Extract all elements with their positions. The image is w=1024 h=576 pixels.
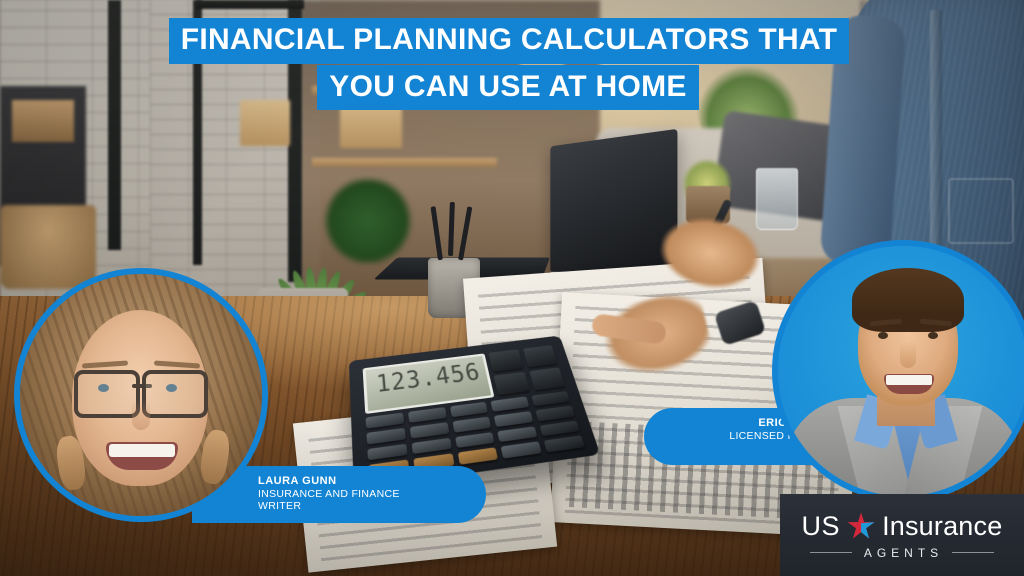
smiling-mouth (884, 374, 934, 394)
brand-logo[interactable]: US Insurance AGENTS (780, 494, 1024, 576)
logo-rule-left (810, 552, 852, 553)
eye (928, 332, 938, 339)
logo-subtitle-row: AGENTS (810, 546, 994, 560)
headline: FINANCIAL PLANNING CALCULATORS THAT YOU … (0, 18, 1024, 110)
person-role-line-1: INSURANCE AND FINANCE (258, 488, 470, 500)
person-name: LAURA GUNN (258, 475, 470, 488)
logo-rule-right (952, 552, 994, 553)
headline-line-2: YOU CAN USE AT HOME (317, 65, 698, 111)
logo-text-us: US (802, 511, 841, 542)
logo-text-insurance: Insurance (882, 511, 1002, 542)
logo-wordmark: US Insurance (802, 511, 1003, 542)
nose (900, 342, 916, 368)
hero-banner: 123.456 FINANCIAL PLANNING CALCUL (0, 0, 1024, 576)
nose (132, 400, 150, 430)
headline-line-1: FINANCIAL PLANNING CALCULATORS THAT (169, 18, 850, 64)
star-icon (847, 512, 875, 540)
smiling-mouth (106, 442, 178, 470)
person-role-line-2: WRITER (258, 500, 470, 512)
eye (878, 332, 888, 339)
avatar-laura-gunn (14, 268, 268, 522)
logo-text-agents: AGENTS (861, 546, 943, 560)
avatar-eric-stauffer (772, 240, 1024, 502)
